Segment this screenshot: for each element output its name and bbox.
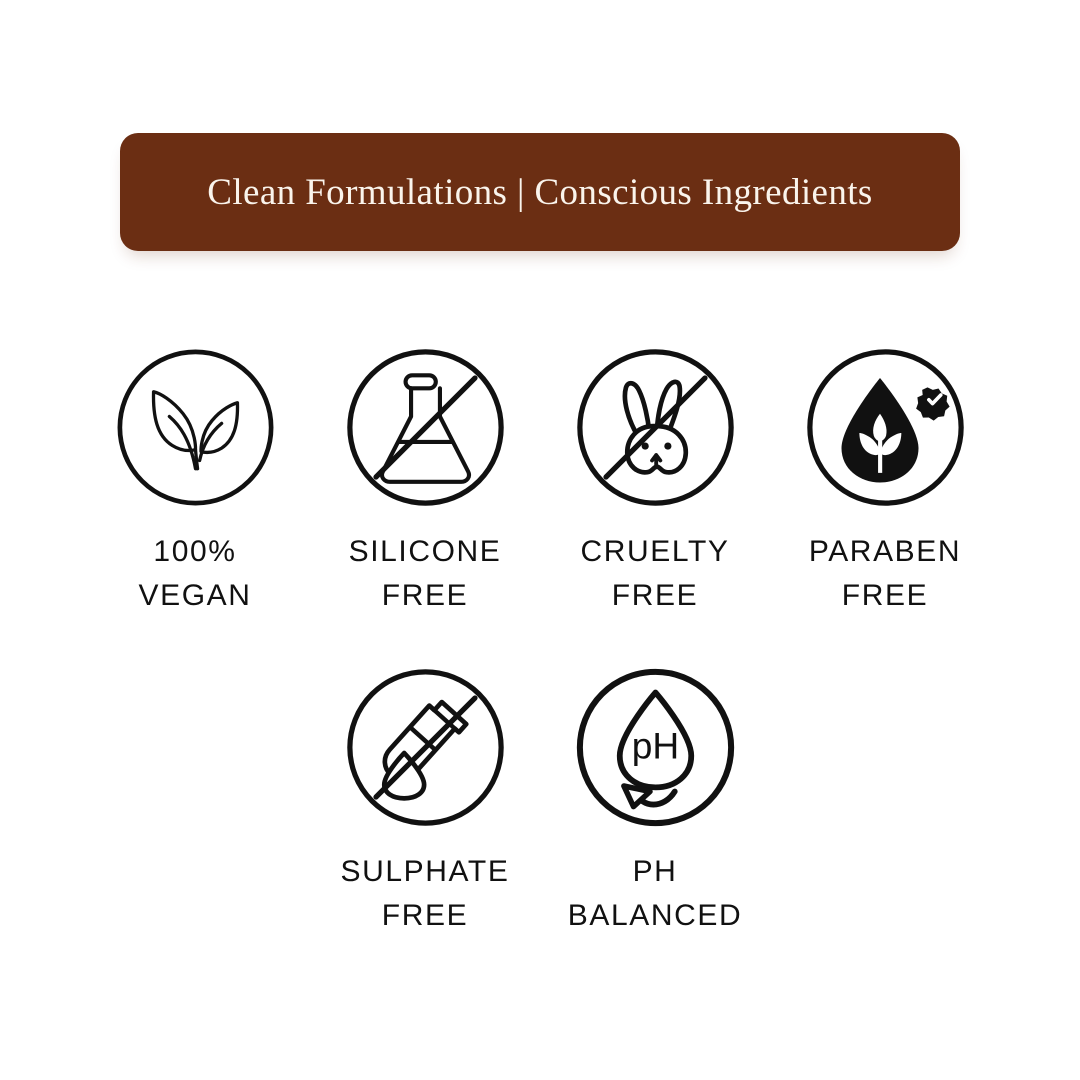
badge-label: SULPHATE FREE	[341, 850, 510, 937]
droplet-plant-check-icon	[803, 345, 968, 510]
ph-droplet-arrow-icon: pH	[573, 665, 738, 830]
badge-label: SILICONE FREE	[349, 530, 502, 617]
badge-silicone-free: SILICONE FREE	[335, 345, 515, 617]
badge-row-1: 100% VEGAN SILICONE FREE	[0, 345, 1080, 617]
badge-label: 100% VEGAN	[138, 530, 251, 617]
badge-label: PARABEN FREE	[809, 530, 961, 617]
two-leaves-icon	[113, 345, 278, 510]
no-rabbit-icon	[573, 345, 738, 510]
certification-badge-grid: 100% VEGAN SILICONE FREE	[0, 345, 1080, 937]
badge-row-2: SULPHATE FREE pH PH BALANCED	[0, 665, 1080, 937]
badge-label: CRUELTY FREE	[581, 530, 730, 617]
badge-cruelty-free: CRUELTY FREE	[565, 345, 745, 617]
badge-ph-balanced: pH PH BALANCED	[565, 665, 745, 937]
badge-label: PH BALANCED	[568, 850, 743, 937]
headline-banner: Clean Formulations | Conscious Ingredien…	[120, 133, 960, 251]
badge-paraben-free: PARABEN FREE	[795, 345, 975, 617]
no-flask-icon	[343, 345, 508, 510]
banner-title: Clean Formulations | Conscious Ingredien…	[207, 174, 872, 211]
badge-vegan: 100% VEGAN	[105, 345, 285, 617]
no-test-tube-icon	[343, 665, 508, 830]
ph-text: pH	[631, 725, 678, 767]
badge-sulphate-free: SULPHATE FREE	[335, 665, 515, 937]
